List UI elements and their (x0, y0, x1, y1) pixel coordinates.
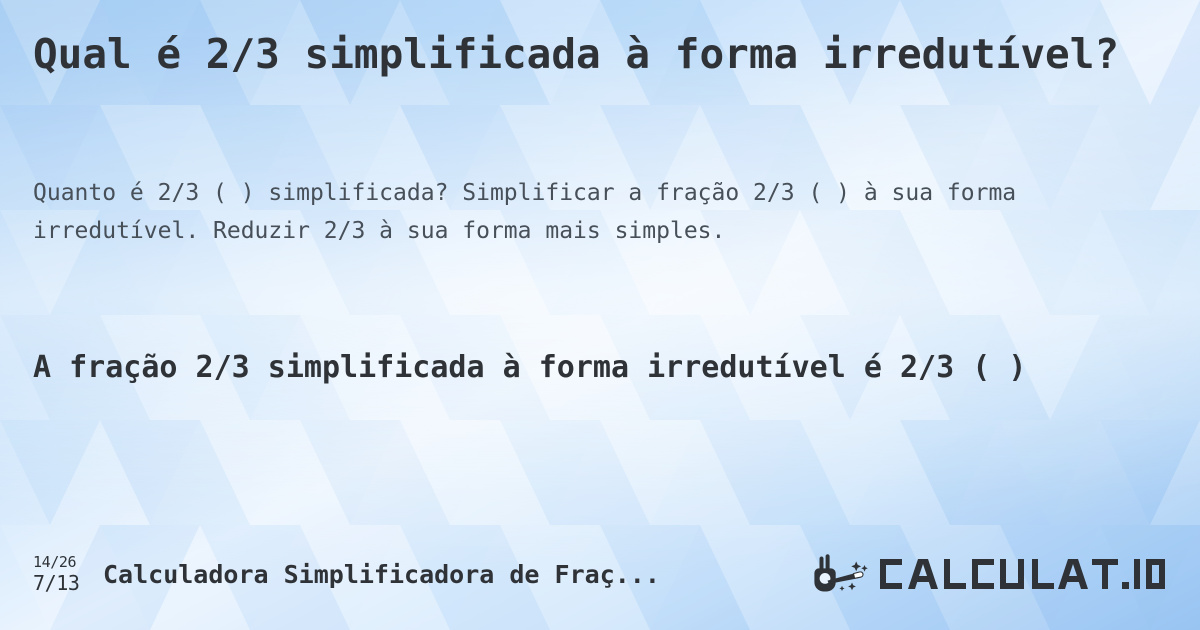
brand-logo[interactable]: CALCULAT.IO (812, 552, 1167, 596)
answer-statement: A fração 2/3 simplificada à forma irredu… (33, 345, 1168, 390)
page-title: Qual é 2/3 simplificada à forma irredutí… (33, 28, 1168, 80)
page-content: Qual é 2/3 simplificada à forma irredutí… (0, 0, 1200, 630)
badge-simplified-fraction: 7/13 (33, 573, 80, 593)
fraction-simplify-badge: 14/26 7/13 (33, 555, 95, 593)
footer-site-name: Calculadora Simplificadora de Fraç... (95, 560, 812, 589)
badge-original-fraction: 14/26 (33, 555, 76, 570)
brand-wordmark (878, 553, 1167, 595)
hand-magic-wand-icon (812, 552, 874, 596)
intro-description: Quanto é 2/3 ( ) simplificada? Simplific… (33, 174, 1163, 250)
footer-bar: 14/26 7/13 Calculadora Simplificadora de… (0, 545, 1200, 603)
og-image-card: Qual é 2/3 simplificada à forma irredutí… (0, 0, 1200, 630)
